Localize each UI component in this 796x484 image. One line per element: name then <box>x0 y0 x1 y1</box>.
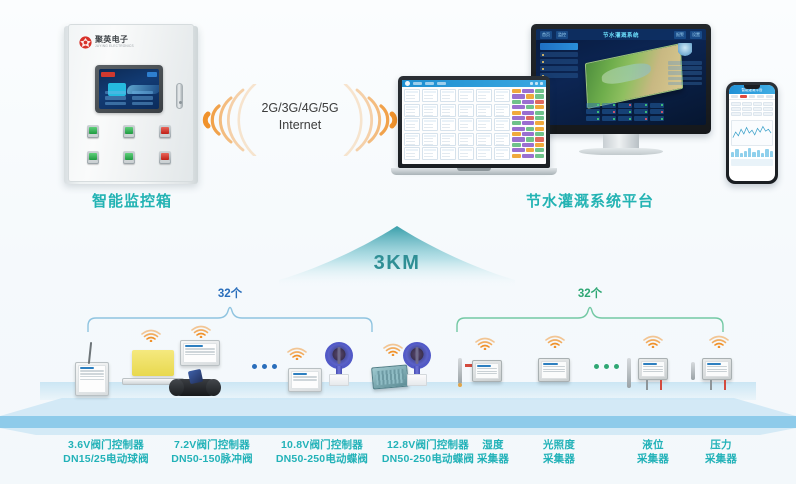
label-level-line1: 液位 <box>642 439 663 451</box>
monitor-tab-0[interactable]: 首页 <box>540 31 552 39</box>
phone-line-chart <box>731 120 773 146</box>
wireless-line-2: Internet <box>279 118 321 132</box>
monitor-right-panel <box>668 43 702 87</box>
indicator-3[interactable] <box>159 125 171 138</box>
indicator-1[interactable] <box>87 125 99 138</box>
probe-lead <box>646 380 648 390</box>
label-7v2-line2: DN50-150脉冲阀 <box>171 453 253 465</box>
label-humidity-line2: 采集器 <box>477 453 509 465</box>
phone-bar-chart <box>731 148 773 157</box>
label-12v8-line1: 12.8V阀门控制器 <box>387 439 469 451</box>
wifi-signal-icon <box>140 328 162 342</box>
indicator-4[interactable] <box>87 151 99 164</box>
label-valve-controller-3v6: 3.6V阀门控制器 DN15/25电动球阀 <box>46 438 166 466</box>
field-device-scene <box>0 300 796 430</box>
purple-butterfly-valve-icon <box>400 342 434 386</box>
label-illuminance-line2: 采集器 <box>543 453 575 465</box>
cabinet-brand-name-en: JUYING ELECTRONICS <box>95 45 134 48</box>
hmi-screen <box>99 69 159 109</box>
bracket-valve-group-count: 32个 <box>218 285 242 301</box>
label-level-collector: 液位 采集器 <box>624 438 682 466</box>
label-12v8-line2: DN50-250电动蝶阀 <box>382 453 474 465</box>
indicator-5[interactable] <box>123 151 135 164</box>
cabinet-handle-icon[interactable] <box>176 83 183 109</box>
hmi-alarm-chip <box>101 72 115 77</box>
platform-caption: 节水灌溉系统平台 <box>470 190 710 211</box>
cabinet-caption: 智能监控箱 <box>52 190 212 211</box>
ellipsis-valve-group <box>252 364 277 369</box>
monitor-screen-title: 节水灌溉系统 <box>603 31 639 39</box>
wall-controller-icon[interactable] <box>288 368 322 392</box>
label-pressure-line2: 采集器 <box>705 453 737 465</box>
laptop-lid <box>398 76 550 168</box>
soil-probe-icon <box>458 358 462 384</box>
phone-notch <box>744 85 760 89</box>
ground-platform <box>0 398 796 438</box>
label-3v6-line1: 3.6V阀门控制器 <box>68 439 144 451</box>
monitor-device-list <box>540 43 578 80</box>
label-10v8-line2: DN50-250电动蝶阀 <box>276 453 368 465</box>
label-humidity-collector: 湿度 采集器 <box>464 438 522 466</box>
sensor-box-icon[interactable] <box>472 360 502 382</box>
laptop-app-body <box>402 87 546 164</box>
wireless-line-1: 2G/3G/4G/5G <box>261 101 338 115</box>
cabinet-door: 聚英电子 JUYING ELECTRONICS <box>68 24 194 182</box>
hmi-touchscreen-icon[interactable] <box>95 65 163 113</box>
laptop-icon[interactable] <box>398 76 563 180</box>
smart-monitoring-cabinet[interactable]: 聚英电子 JUYING ELECTRONICS <box>68 24 194 184</box>
pressure-probe-icon <box>691 362 695 380</box>
label-level-line2: 采集器 <box>637 453 669 465</box>
monitor-tab-3[interactable]: 报警 <box>674 31 686 39</box>
wireless-signal-right-icon <box>338 84 400 156</box>
diagram-canvas: 聚英电子 JUYING ELECTRONICS <box>0 0 796 484</box>
wireless-link: 2G/3G/4G/5G Internet <box>200 78 400 162</box>
phone-data-table <box>729 100 775 118</box>
level-probe-icon <box>627 358 631 388</box>
bracket-sensor-group-count: 32个 <box>578 285 602 301</box>
wifi-signal-icon <box>642 334 664 348</box>
label-10v8-line1: 10.8V阀门控制器 <box>281 439 363 451</box>
indicator-6[interactable] <box>159 151 171 164</box>
platform-devices: 首页 监控 节水灌溉系统 报警 设置 <box>398 24 778 189</box>
phone-screen: 智能灌溉平台 <box>729 85 775 181</box>
label-3v6-line2: DN15/25电动球阀 <box>63 453 149 465</box>
probe-lead-red <box>660 380 662 390</box>
label-7v2-line1: 7.2V阀门控制器 <box>174 439 250 451</box>
monitor-base <box>579 148 663 155</box>
cabinet-indicator-panel[interactable] <box>87 125 177 164</box>
laptop-base <box>391 168 557 175</box>
wifi-signal-icon <box>190 324 212 338</box>
probe-lead-red <box>724 380 726 390</box>
rtu-controller-icon[interactable] <box>75 362 109 396</box>
indicator-2[interactable] <box>123 125 135 138</box>
monitor-tab-1[interactable]: 监控 <box>556 31 568 39</box>
sensor-box-icon[interactable] <box>638 358 668 380</box>
sensor-box-icon[interactable] <box>538 358 570 382</box>
monitor-status-grid <box>586 103 664 121</box>
coverage-range-label: 3KM <box>278 252 516 275</box>
label-pressure-line1: 压力 <box>710 439 731 451</box>
phone-footer-bar <box>731 159 773 166</box>
laptop-app-header <box>402 80 546 87</box>
hmi-value-grid <box>105 91 153 105</box>
probe-lead <box>710 380 712 390</box>
wall-controller-icon[interactable] <box>180 340 220 366</box>
antenna-icon <box>88 342 92 364</box>
laptop-card-grid <box>402 87 512 164</box>
ellipsis-sensor-group <box>594 364 619 369</box>
label-pressure-collector: 压力 采集器 <box>692 438 750 466</box>
wifi-signal-icon <box>474 336 496 350</box>
label-humidity-line1: 湿度 <box>482 439 503 451</box>
cabinet-brand-logo: 聚英电子 JUYING ELECTRONICS <box>79 36 134 49</box>
coverage-range-indicator: 3KM <box>278 224 516 286</box>
hmi-status-chip <box>147 72 157 77</box>
laptop-status-list <box>512 87 546 164</box>
purple-butterfly-valve-icon <box>322 342 356 386</box>
label-valve-controller-7v2: 7.2V阀门控制器 DN50-150脉冲阀 <box>152 438 272 466</box>
hmi-topbar <box>101 71 157 77</box>
juying-flower-logo-icon <box>79 36 92 49</box>
monitor-topbar: 首页 监控 节水灌溉系统 报警 设置 <box>536 29 706 40</box>
cabinet-brand-name-cn: 聚英电子 <box>95 36 134 44</box>
wifi-signal-icon <box>544 334 566 348</box>
sensor-box-icon[interactable] <box>702 358 732 380</box>
wifi-signal-icon <box>286 346 308 360</box>
phone-body: 智能灌溉平台 <box>726 82 778 184</box>
laptop-screen <box>402 80 546 164</box>
label-illuminance-collector: 光照度 采集器 <box>528 438 590 466</box>
wifi-signal-icon <box>708 334 730 348</box>
smartphone-icon[interactable]: 智能灌溉平台 <box>726 82 778 184</box>
black-pulse-valve-icon <box>172 370 218 396</box>
phone-screen-title: 智能灌溉平台 <box>742 88 763 93</box>
monitor-tab-4[interactable]: 设置 <box>690 31 702 39</box>
yellow-ball-valve-icon <box>132 350 174 376</box>
label-illuminance-line1: 光照度 <box>543 439 575 451</box>
